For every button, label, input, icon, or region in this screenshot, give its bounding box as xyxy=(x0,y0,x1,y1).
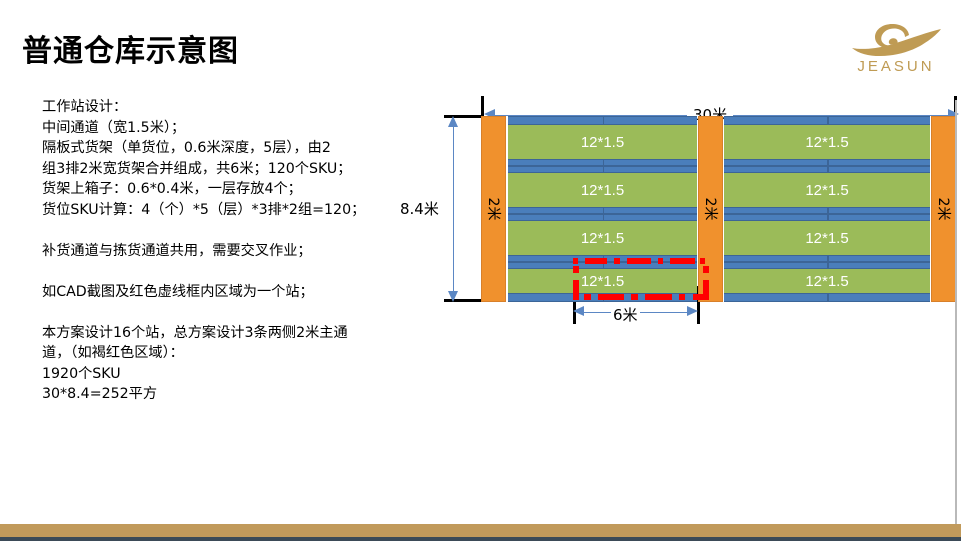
text-line: 30*8.4=252平方 xyxy=(42,384,442,405)
description-text: 工作站设计： 中间通道（宽1.5米）； 隔板式货架（单货位，0.6米深度，5层）… xyxy=(42,97,442,405)
station-box-dash xyxy=(585,258,607,264)
dimension-height-8p4m: 8.4米 xyxy=(444,116,464,302)
warehouse-layout-diagram: 30米 8.4米 6米 2米 2米 xyxy=(418,96,961,326)
arrow-right-icon xyxy=(687,306,698,316)
text-line: 中间通道（宽1.5米）； xyxy=(42,118,442,139)
station-box-dash xyxy=(614,258,620,264)
station-box-dash xyxy=(584,294,591,300)
text-paragraph-3: 如CAD截图及红色虚线框内区域为一个站； xyxy=(42,282,442,303)
station-box-dash xyxy=(627,258,651,264)
text-paragraph-2: 补货通道与拣货通道共用，需要交叉作业； xyxy=(42,241,442,262)
dimension-label-8p4m: 8.4米 xyxy=(400,198,439,219)
station-box-dash xyxy=(700,258,705,264)
slide-right-rule xyxy=(955,100,957,530)
dimension-label-6m: 6米 xyxy=(611,304,640,325)
text-line: 隔板式货架（单货位，0.6米深度，5层），由2 xyxy=(42,138,442,159)
station-highlight-box xyxy=(481,116,956,302)
text-line: 工作站设计： xyxy=(42,97,442,118)
station-box-dash xyxy=(573,258,578,264)
text-line: 组3排2米宽货架合并组成，共6米；120个SKU； xyxy=(42,159,442,180)
footer-navy-bar xyxy=(0,537,961,541)
dimension-station-width-6m: 6米 xyxy=(573,302,699,324)
text-line: 道，（如褐红色区域）： xyxy=(42,343,442,364)
text-line: 货架上箱子：0.6*0.4米，一层存放4个； xyxy=(42,179,442,200)
station-box-dash xyxy=(598,294,624,300)
station-box-dash xyxy=(631,294,638,300)
paragraph-spacer xyxy=(42,220,442,241)
jeasun-swoosh-icon xyxy=(848,18,948,60)
text-line: 本方案设计16个站，总方案设计3条两侧2米主通 xyxy=(42,323,442,344)
slide-canvas: 普通仓库示意图 JEASUN 工作站设计： 中间通道（宽1.5米）； 隔板式货架… xyxy=(0,0,961,541)
station-box-dash xyxy=(573,280,579,300)
paragraph-spacer xyxy=(42,302,442,323)
station-box-dash xyxy=(573,266,579,273)
station-box-dash xyxy=(679,294,685,300)
arrow-down-icon xyxy=(448,291,458,302)
station-box-dash xyxy=(703,266,709,273)
footer-gold-bar xyxy=(0,524,961,537)
station-box-dash xyxy=(670,258,695,264)
company-logo: JEASUN xyxy=(838,18,954,82)
text-line: 货位SKU计算：4（个）*5（层）*3排*2组=120； xyxy=(42,200,442,221)
dimension-line xyxy=(453,125,454,293)
arrow-left-icon xyxy=(573,306,584,316)
warehouse-plan: 2米 2米 2米 12*1.5 xyxy=(481,116,956,302)
logo-wordmark: JEASUN xyxy=(838,58,954,75)
station-box-dash xyxy=(645,294,672,300)
page-title: 普通仓库示意图 xyxy=(22,26,239,70)
station-box-dash xyxy=(693,294,709,300)
text-line: 1920个SKU xyxy=(42,364,442,385)
paragraph-spacer xyxy=(42,261,442,282)
station-box-dash xyxy=(658,258,663,264)
